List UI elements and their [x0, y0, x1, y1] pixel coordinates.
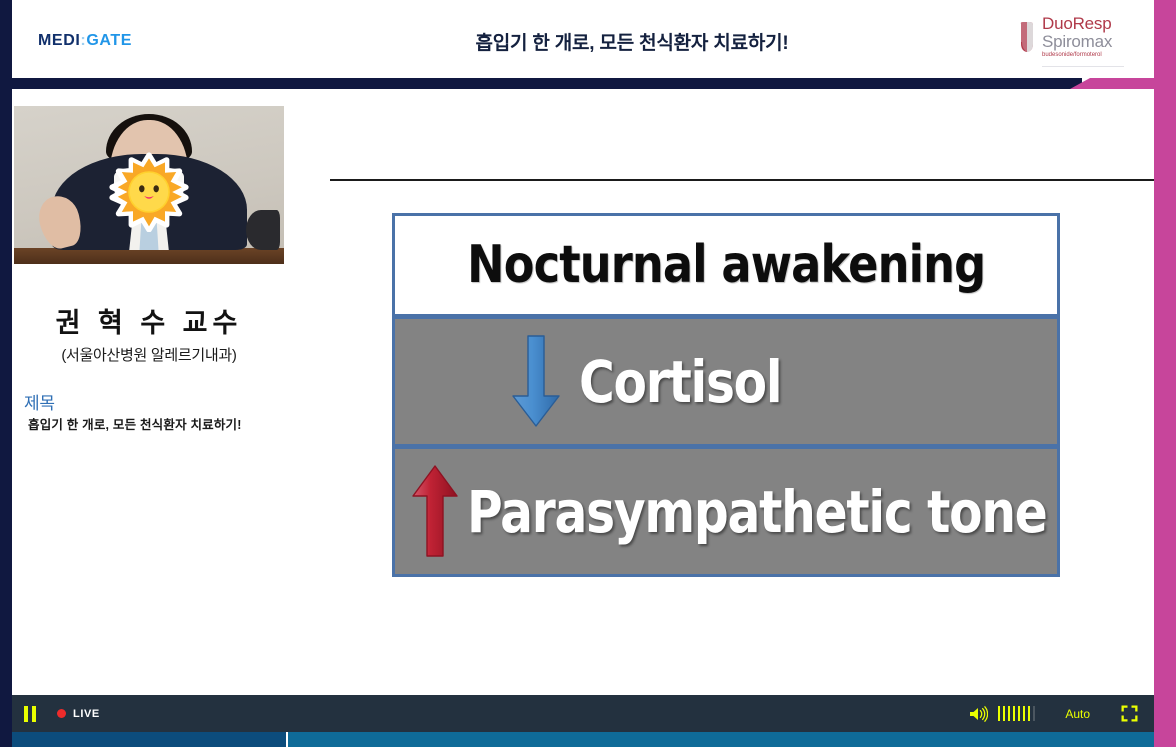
quality-selector[interactable]: Auto [1065, 707, 1090, 721]
sun-emoji-sticker-icon [109, 152, 189, 232]
page-header: MEDI:GATE 흡입기 한 개로, 모든 천식환자 치료하기! DuoRes… [12, 0, 1154, 78]
speaker-affiliation: (서울아산병원 알레르기내과) [12, 344, 286, 365]
inhaler-icon [1018, 20, 1038, 54]
diagram-row-label: Parasympathetic tone [467, 478, 1047, 546]
meta-value-title: 흡입기 한 개로, 모든 천식환자 치료하기! [28, 414, 284, 433]
diagram-row-parasympathetic-tone: Parasympathetic tone [392, 447, 1060, 577]
sponsor-line-1: DuoResp [1042, 15, 1112, 33]
live-indicator[interactable]: LIVE [57, 708, 100, 720]
thumbnail-microphone [246, 210, 280, 250]
band-navy-segment [12, 78, 1082, 89]
sponsor-wordmark: DuoResp Spiromax budesonide/formoterol [1042, 15, 1112, 59]
sponsor-line-2: Spiromax [1042, 33, 1112, 51]
left-edge-bar [0, 0, 12, 747]
live-label: LIVE [73, 708, 100, 720]
band-magenta-segment [1090, 78, 1154, 89]
page-title: 흡입기 한 개로, 모든 천식환자 치료하기! [312, 28, 952, 55]
seek-handle[interactable] [286, 732, 288, 747]
sponsor-underline [1042, 66, 1124, 67]
down-arrow-blue-icon [493, 332, 579, 432]
medigate-logo[interactable]: MEDI:GATE [38, 32, 132, 50]
seek-bar[interactable] [12, 732, 1154, 747]
slide-view: Nocturnal awakening [286, 89, 1154, 695]
player-right-controls: Auto [964, 695, 1146, 732]
diagram-row-nocturnal-awakening: Nocturnal awakening [392, 213, 1060, 317]
video-thumbnail[interactable] [14, 106, 284, 264]
logo-text-gate: GATE [86, 32, 132, 49]
right-edge-bar [1154, 0, 1176, 747]
player-left-controls: LIVE [12, 695, 100, 732]
up-arrow-red-icon [403, 462, 467, 562]
player-control-bar: LIVE Auto [12, 695, 1154, 732]
volume-slider[interactable] [998, 706, 1036, 721]
slide-header-rule [330, 179, 1154, 181]
pause-icon [24, 706, 36, 722]
speaker-icon [969, 706, 988, 722]
pause-button[interactable] [12, 695, 48, 732]
page-root: MEDI:GATE 흡입기 한 개로, 모든 천식환자 치료하기! DuoRes… [0, 0, 1176, 747]
diagram-row-cortisol: Cortisol [392, 317, 1060, 447]
content-area: 권 혁 수 교수 (서울아산병원 알레르기내과) 제목 흡입기 한 개로, 모든… [12, 89, 1154, 695]
logo-text-medi: MEDI [38, 32, 80, 49]
sidebar: 권 혁 수 교수 (서울아산병원 알레르기내과) 제목 흡입기 한 개로, 모든… [12, 89, 286, 695]
fullscreen-button[interactable] [1112, 695, 1146, 732]
thumbnail-desk [14, 248, 284, 264]
diagram-row-label: Cortisol [579, 348, 781, 416]
volume-button[interactable] [964, 695, 994, 732]
seek-progress-played [12, 732, 286, 747]
speaker-name: 권 혁 수 교수 [12, 301, 286, 340]
meta-label-title: 제목 [24, 389, 55, 414]
diagram-row-label: Nocturnal awakening [467, 235, 985, 295]
sponsor-logo-duoresp-spiromax: DuoResp Spiromax budesonide/formoterol [1016, 10, 1124, 72]
header-divider-band [12, 78, 1154, 89]
sponsor-line-3: budesonide/formoterol [1042, 52, 1112, 58]
fullscreen-icon [1121, 705, 1138, 722]
live-dot-icon [57, 709, 66, 718]
slide-diagram: Nocturnal awakening [392, 213, 1060, 577]
